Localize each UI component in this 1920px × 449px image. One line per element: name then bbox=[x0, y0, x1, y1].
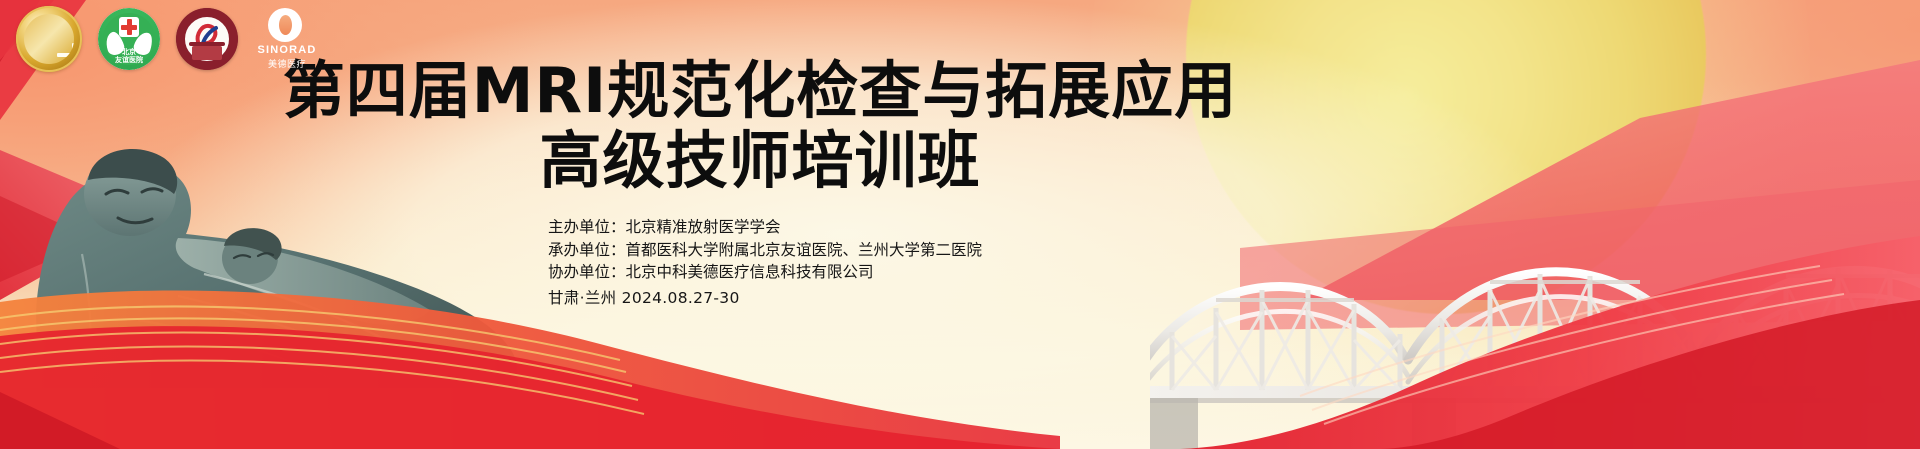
beijing-friendship-hospital-logo: 北京 友谊医院 bbox=[98, 8, 160, 70]
location-date-line: 甘肃·兰州 2024.08.27-30 bbox=[548, 287, 1068, 310]
organizer-logos: 北京 友谊医院 SINORAD 美德医疗 bbox=[16, 6, 320, 72]
red-cross-icon bbox=[119, 17, 139, 37]
sinorad-sub-text: 美德医疗 bbox=[254, 57, 320, 70]
sinorad-logo: SINORAD 美德医疗 bbox=[254, 8, 320, 70]
sinorad-mark-icon bbox=[268, 8, 302, 42]
hospital-logo-line1: 北京 bbox=[98, 49, 160, 57]
banner-title: 第四届MRI规范化检查与拓展应用 高级技师培训班 bbox=[0, 58, 1520, 194]
title-line-2: 高级技师培训班 bbox=[0, 128, 1520, 194]
gold-emblem-logo bbox=[16, 6, 82, 72]
banner-info-block: 主办单位：北京精准放射医学学会 承办单位：首都医科大学附属北京友谊医院、兰州大学… bbox=[548, 216, 1068, 309]
conference-banner: 北京 友谊医院 SINORAD 美德医疗 第四届MRI规范化检查与拓展应用 高级… bbox=[0, 0, 1920, 449]
hospital-logo-line2: 友谊医院 bbox=[98, 57, 160, 65]
sinorad-brand-text: SINORAD bbox=[254, 44, 320, 56]
organizer-line: 主办单位：北京精准放射医学学会 bbox=[548, 216, 1068, 239]
co-organizer-line: 承办单位：首都医科大学附属北京友谊医院、兰州大学第二医院 bbox=[548, 239, 1068, 262]
gate-icon bbox=[192, 46, 222, 60]
lanzhou-university-second-hospital-logo bbox=[176, 8, 238, 70]
supporter-line: 协办单位：北京中科美德医疗信息科技有限公司 bbox=[548, 261, 1068, 284]
